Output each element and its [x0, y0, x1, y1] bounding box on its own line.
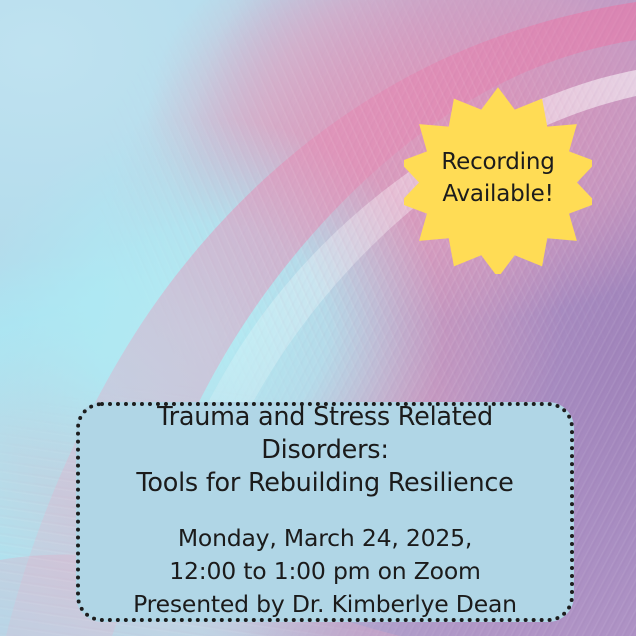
badge-line-1: Recording — [441, 147, 554, 179]
event-title: Trauma and Stress Related Disorders: Too… — [94, 401, 556, 500]
badge-text-block: Recording Available! — [404, 84, 592, 274]
recording-available-badge: Recording Available! — [404, 84, 592, 274]
event-poster: Recording Available! Trauma and Stress R… — [0, 0, 636, 636]
event-info-card: Trauma and Stress Related Disorders: Too… — [76, 402, 574, 622]
event-details: Monday, March 24, 2025, 12:00 to 1:00 pm… — [133, 522, 517, 621]
badge-line-2: Available! — [442, 179, 553, 211]
